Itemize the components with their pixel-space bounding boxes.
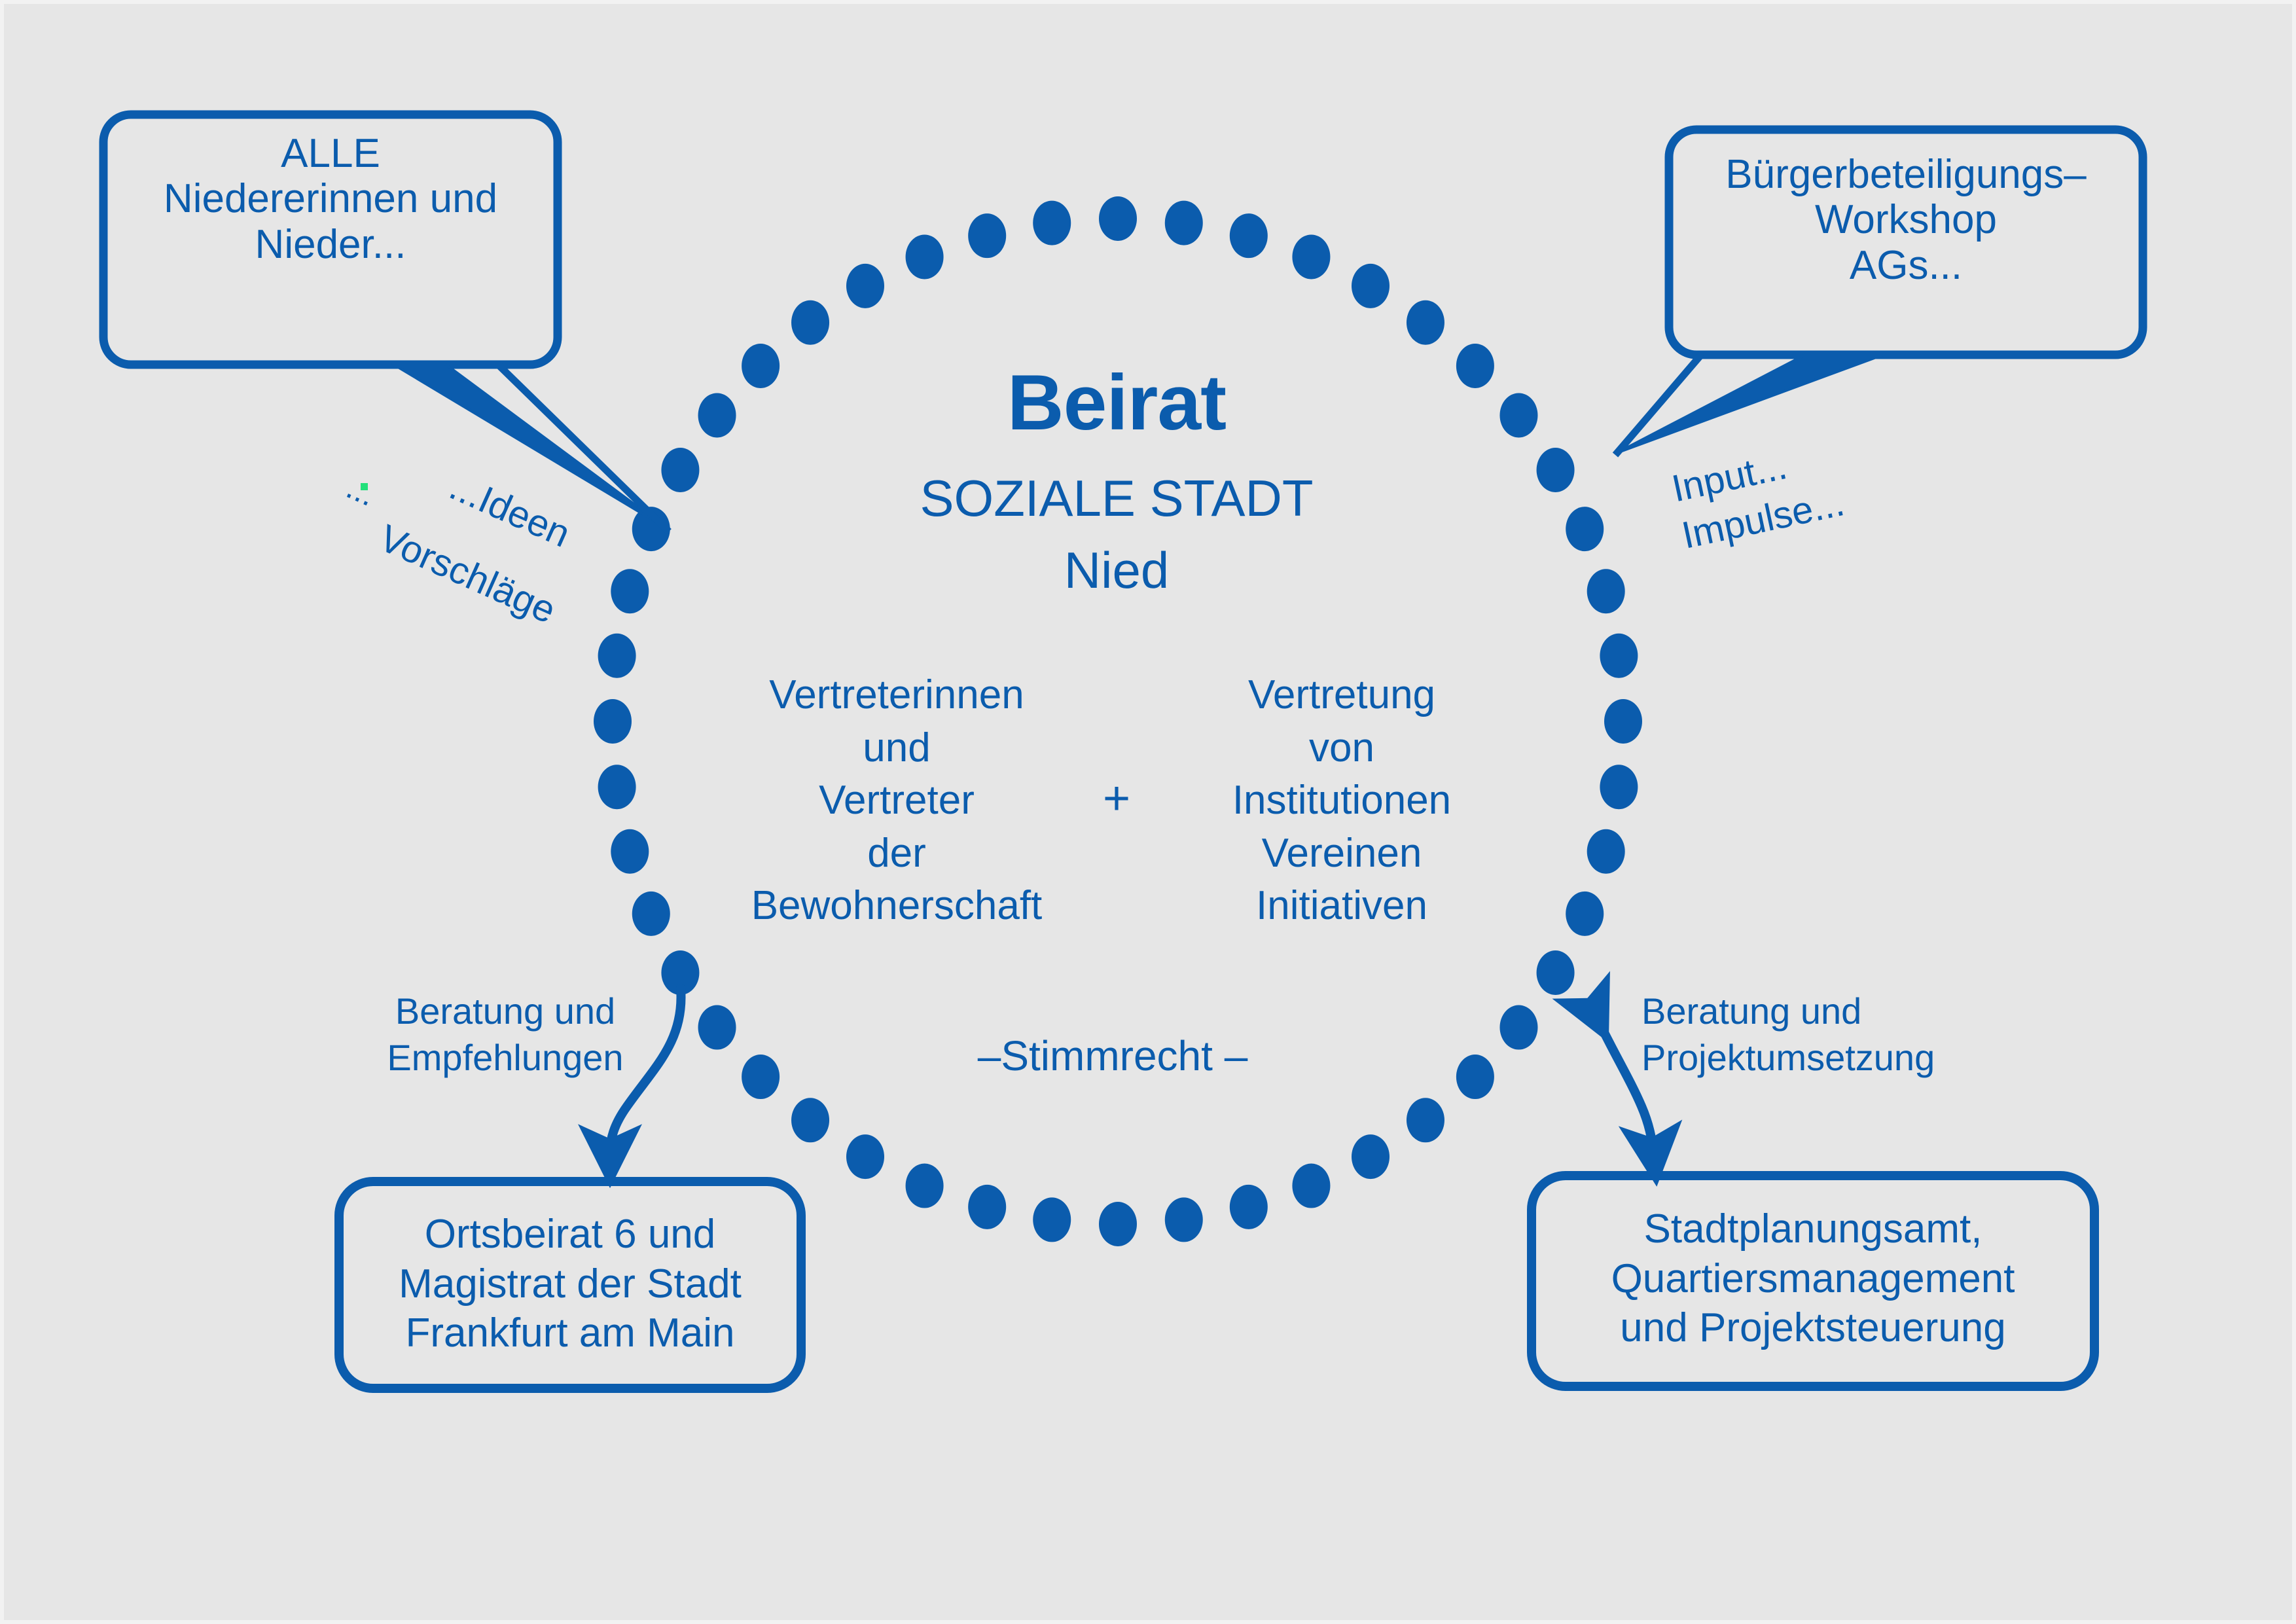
speech-bubble-top-left[interactable] bbox=[103, 115, 669, 532]
circle-dot bbox=[1033, 201, 1071, 245]
circle-dot bbox=[1604, 699, 1642, 744]
circle-dot bbox=[1230, 213, 1268, 258]
circle-dot bbox=[906, 1164, 944, 1208]
diagram-canvas: ALLE Niedererinnen und Nieder... Bürgerb… bbox=[0, 0, 2296, 1624]
circle-dot bbox=[611, 829, 649, 874]
speech-bubble-top-left-tail-edge bbox=[497, 364, 669, 532]
circle-dot bbox=[968, 213, 1006, 258]
circle-dot bbox=[1033, 1197, 1071, 1242]
speech-bubble-top-left-outline bbox=[103, 115, 558, 365]
circle-dot bbox=[661, 448, 699, 492]
speech-bubble-top-right-outline bbox=[1669, 130, 2143, 355]
box-bottom-right[interactable] bbox=[1532, 1176, 2094, 1386]
speech-bubble-top-right[interactable] bbox=[1615, 130, 2143, 455]
circle-dot bbox=[1165, 201, 1203, 245]
circle-dot bbox=[1230, 1185, 1268, 1229]
circle-dot bbox=[1499, 1005, 1537, 1050]
circle-dot bbox=[598, 634, 636, 678]
circle-dot bbox=[968, 1185, 1006, 1229]
circle-dot bbox=[698, 393, 736, 437]
diagram-vector-layer bbox=[0, 0, 2296, 1624]
circle-dot bbox=[1566, 507, 1604, 551]
circle-dot bbox=[611, 569, 649, 613]
circle-dot bbox=[1456, 344, 1494, 388]
circle-dot bbox=[1099, 1202, 1137, 1246]
circle-dot bbox=[598, 765, 636, 809]
circle-dot bbox=[906, 234, 944, 279]
box-bottom-right-outline bbox=[1532, 1176, 2094, 1386]
circle-dot bbox=[1537, 448, 1575, 492]
circle-dot bbox=[1499, 393, 1537, 437]
box-bottom-left[interactable] bbox=[339, 1182, 801, 1388]
circle-dot bbox=[1292, 1164, 1330, 1208]
circle-dot bbox=[742, 1055, 780, 1099]
circle-dot bbox=[846, 264, 884, 308]
speech-bubble-top-left-tail bbox=[393, 364, 668, 529]
arrow-beratung-projektumsetzung bbox=[1594, 1011, 1653, 1152]
circle-dot bbox=[1600, 634, 1638, 678]
circle-dot bbox=[1407, 1098, 1444, 1142]
circle-dot bbox=[1587, 569, 1625, 613]
circle-dot bbox=[1352, 1134, 1390, 1179]
circle-dot bbox=[632, 892, 670, 936]
circle-dot bbox=[594, 699, 632, 744]
circle-dot bbox=[791, 300, 829, 345]
circle-dot bbox=[791, 1098, 829, 1142]
circle-dot bbox=[1352, 264, 1390, 308]
circle-dot bbox=[1566, 892, 1604, 936]
stray-pixel-artifact bbox=[361, 483, 368, 490]
circle-dot bbox=[1292, 234, 1330, 279]
speech-bubble-top-right-tail-edge bbox=[1615, 354, 1702, 455]
box-bottom-left-outline bbox=[339, 1182, 801, 1388]
circle-dot bbox=[1099, 196, 1137, 241]
circle-dot bbox=[1587, 829, 1625, 874]
circle-dot bbox=[1165, 1197, 1203, 1242]
circle-dot bbox=[1456, 1055, 1494, 1099]
circle-dot bbox=[846, 1134, 884, 1179]
arrow-beratung-empfehlungen bbox=[610, 988, 681, 1153]
dotted-circle bbox=[594, 196, 1642, 1246]
circle-dot bbox=[1600, 765, 1638, 809]
circle-dot bbox=[698, 1005, 736, 1050]
circle-dot bbox=[1537, 950, 1575, 995]
circle-dot bbox=[742, 344, 780, 388]
circle-dot bbox=[1407, 300, 1444, 345]
